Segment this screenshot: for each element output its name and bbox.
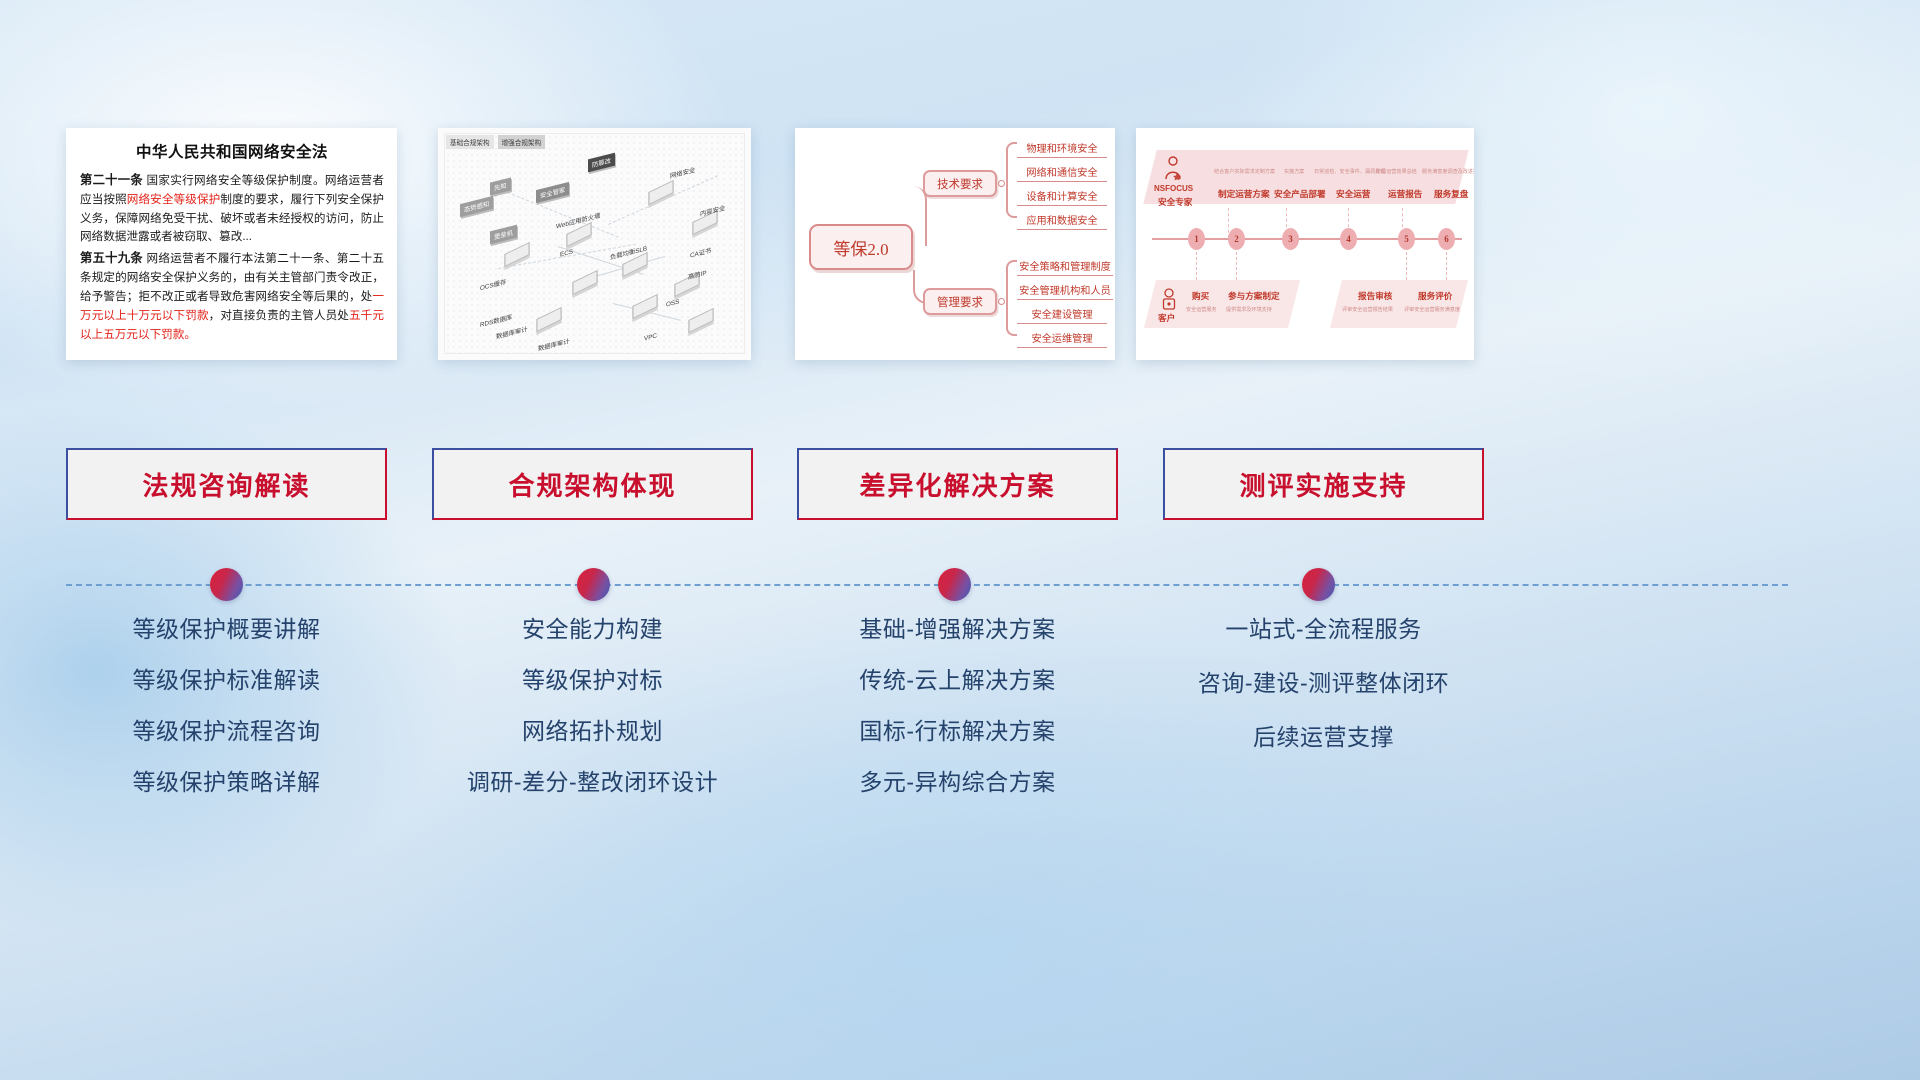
mindmap-branch-management[interactable]: 管理要求: [923, 288, 997, 315]
list-item: 基础-增强解决方案: [797, 618, 1118, 641]
step-title[interactable]: 运营报告: [1388, 188, 1422, 200]
list-item: 等级保护策略详解: [66, 771, 387, 794]
bottom-step-subtitle: 评审安全运营报告结果: [1342, 306, 1393, 313]
section-header-regulation-consulting[interactable]: 法规咨询解读: [66, 448, 387, 520]
list-item: 多元-异构综合方案: [797, 771, 1118, 794]
mindmap-leaf[interactable]: 物理和环境安全: [1017, 140, 1107, 158]
article-21-highlight: 网络安全等级保护: [127, 193, 221, 206]
timeline-drop-line: [1406, 252, 1407, 280]
list-item: 等级保护标准解读: [66, 669, 387, 692]
step-subtitle: 结合客户实际需求定制方案: [1214, 168, 1275, 175]
timeline-node[interactable]: 3: [1282, 228, 1299, 250]
timeline-node[interactable]: 1: [1188, 228, 1205, 250]
customer-role: 客户: [1158, 312, 1175, 324]
step-subtitle: 阶段运营效果总结: [1376, 168, 1417, 175]
mindmap: 等保2.0 技术要求 管理要求 物理和环境安全 网络和通信安全 设备和计算安全 …: [795, 128, 1115, 360]
detail-column-regulation-consulting: 等级保护概要讲解 等级保护标准解读 等级保护流程咨询 等级保护策略详解: [66, 618, 387, 822]
tab-basic-architecture[interactable]: 基础合规架构: [446, 135, 494, 149]
customer-avatar-icon: [1160, 288, 1178, 315]
architecture-tabs[interactable]: 基础合规架构 增强合规架构: [446, 135, 545, 149]
step-title[interactable]: 安全运营: [1336, 188, 1370, 200]
timeline-node[interactable]: 5: [1398, 228, 1415, 250]
timeline-marker-1[interactable]: [210, 568, 243, 601]
law-document: 中华人民共和国网络安全法 第二十一条 国家实行网络安全等级保护制度。网络运营者应…: [66, 128, 397, 354]
list-item: 安全能力构建: [432, 618, 753, 641]
list-item: 网络拓扑规划: [432, 720, 753, 743]
bottom-step-subtitle: 安全运营服务: [1186, 306, 1217, 313]
bottom-step-title[interactable]: 报告审核: [1358, 290, 1392, 302]
mindmap-collapse-dot-icon[interactable]: [998, 298, 1005, 305]
list-item: 等级保护概要讲解: [66, 618, 387, 641]
section-title: 合规架构体现: [508, 466, 676, 503]
detail-column-assessment-support: 一站式-全流程服务 咨询-建设-测评整体闭环 后续运营支撑: [1163, 618, 1484, 780]
list-item: 咨询-建设-测评整体闭环: [1163, 672, 1484, 695]
preview-cards-row: 中华人民共和国网络安全法 第二十一条 国家实行网络安全等级保护制度。网络运营者应…: [0, 128, 1920, 363]
section-header-differentiated-solution[interactable]: 差异化解决方案: [797, 448, 1118, 520]
bottom-step-title[interactable]: 参与方案制定: [1228, 290, 1280, 302]
mindmap-collapse-dot-icon[interactable]: [998, 180, 1005, 187]
mindmap-leaf[interactable]: 安全建设管理: [1017, 306, 1107, 324]
section-title: 测评实施支持: [1239, 466, 1407, 503]
mindmap-leaf[interactable]: 安全运维管理: [1017, 330, 1107, 348]
step-subtitle: 服务满意度调查及改进措施落地跟进: [1422, 168, 1474, 175]
mindmap-root-node[interactable]: 等保2.0: [809, 224, 913, 270]
card-cybersecurity-law[interactable]: 中华人民共和国网络安全法 第二十一条 国家实行网络安全等级保护制度。网络运营者应…: [66, 128, 397, 360]
step-title[interactable]: 服务复盘: [1434, 188, 1468, 200]
timeline-bottom-band-right: [1330, 280, 1468, 328]
law-title: 中华人民共和国网络安全法: [80, 140, 384, 162]
card-nsfocus-service-timeline[interactable]: NSFOCUS 安全专家 结合客户实际需求定制方案 制定运营方案 实施方案 安全…: [1136, 128, 1474, 360]
section-title: 差异化解决方案: [859, 466, 1055, 503]
step-title[interactable]: 制定运营方案: [1218, 188, 1270, 200]
step-subtitle: 实施方案: [1284, 168, 1304, 175]
timeline-connector: [0, 568, 1920, 602]
list-item: 国标-行标解决方案: [797, 720, 1118, 743]
mindmap-leaf[interactable]: 应用和数据安全: [1017, 212, 1107, 230]
section-title: 法规咨询解读: [142, 466, 310, 503]
expert-avatar-icon: [1162, 156, 1184, 185]
timeline-drop-line: [1196, 252, 1197, 280]
mindmap-leaf[interactable]: 安全策略和管理制度: [1017, 258, 1113, 276]
section-headers-row: 法规咨询解读 合规架构体现 差异化解决方案 测评实施支持: [0, 448, 1920, 521]
section-header-assessment-support[interactable]: 测评实施支持: [1163, 448, 1484, 520]
list-item: 传统-云上解决方案: [797, 669, 1118, 692]
list-item: 后续运营支撑: [1163, 726, 1484, 749]
bottom-step-title[interactable]: 服务评价: [1418, 290, 1452, 302]
list-item: 一站式-全流程服务: [1163, 618, 1484, 641]
card-compliance-architecture[interactable]: 基础合规架构 增强合规架构 防篡改 安全管家 先知: [438, 128, 751, 360]
mindmap-leaf[interactable]: 设备和计算安全: [1017, 188, 1107, 206]
list-item: 调研-差分-整改闭环设计: [432, 771, 753, 794]
law-article-59: 第五十九条 网络运营者不履行本法第二十一条、第二十五条规定的网络安全保护义务的，…: [80, 249, 384, 344]
timeline-node[interactable]: 2: [1228, 228, 1245, 250]
list-item: 等级保护流程咨询: [66, 720, 387, 743]
mindmap-bracket: [1006, 260, 1017, 336]
detail-column-differentiated-solution: 基础-增强解决方案 传统-云上解决方案 国标-行标解决方案 多元-异构综合方案: [797, 618, 1118, 822]
expert-role: 安全专家: [1158, 196, 1192, 208]
bottom-step-subtitle: 提供需求及环境支持: [1226, 306, 1272, 313]
timeline-marker-4[interactable]: [1302, 568, 1335, 601]
mindmap-bracket: [1006, 142, 1017, 218]
step-subtitle: 日常巡检、安全事件、漏洞处理: [1314, 168, 1385, 175]
bottom-step-subtitle: 评审安全运营服务满意度: [1404, 306, 1460, 313]
timeline-node[interactable]: 4: [1340, 228, 1357, 250]
timeline-dashed-line: [66, 584, 1788, 586]
tab-enhanced-architecture[interactable]: 增强合规架构: [498, 135, 546, 149]
mindmap-branch-technical[interactable]: 技术要求: [923, 170, 997, 197]
mindmap-leaf[interactable]: 网络和通信安全: [1017, 164, 1107, 182]
service-timeline: NSFOCUS 安全专家 结合客户实际需求定制方案 制定运营方案 实施方案 安全…: [1136, 128, 1474, 360]
timeline-node[interactable]: 6: [1438, 228, 1455, 250]
architecture-diagram: 基础合规架构 增强合规架构 防篡改 安全管家 先知: [438, 128, 751, 360]
timeline-marker-2[interactable]: [577, 568, 610, 601]
step-title[interactable]: 安全产品部署: [1274, 188, 1326, 200]
detail-column-compliance-architecture: 安全能力构建 等级保护对标 网络拓扑规划 调研-差分-整改闭环设计: [432, 618, 753, 822]
article-21-number: 第二十一条: [80, 173, 143, 187]
law-article-21: 第二十一条 国家实行网络安全等级保护制度。网络运营者应当按照网络安全等级保护制度…: [80, 171, 384, 247]
section-header-compliance-architecture[interactable]: 合规架构体现: [432, 448, 753, 520]
article-59-mid: ，对直接负责的主管人员处: [209, 309, 349, 322]
mindmap-leaf[interactable]: 安全管理机构和人员: [1017, 282, 1113, 300]
card-mindmap-dengbao[interactable]: 等保2.0 技术要求 管理要求 物理和环境安全 网络和通信安全 设备和计算安全 …: [795, 128, 1115, 360]
timeline-drop-line: [1236, 252, 1237, 280]
expert-brand: NSFOCUS: [1154, 184, 1193, 193]
timeline-marker-3[interactable]: [938, 568, 971, 601]
timeline-drop-line: [1446, 252, 1447, 280]
list-item: 等级保护对标: [432, 669, 753, 692]
bottom-step-title[interactable]: 购买: [1192, 290, 1209, 302]
article-59-number: 第五十九条: [80, 251, 143, 265]
